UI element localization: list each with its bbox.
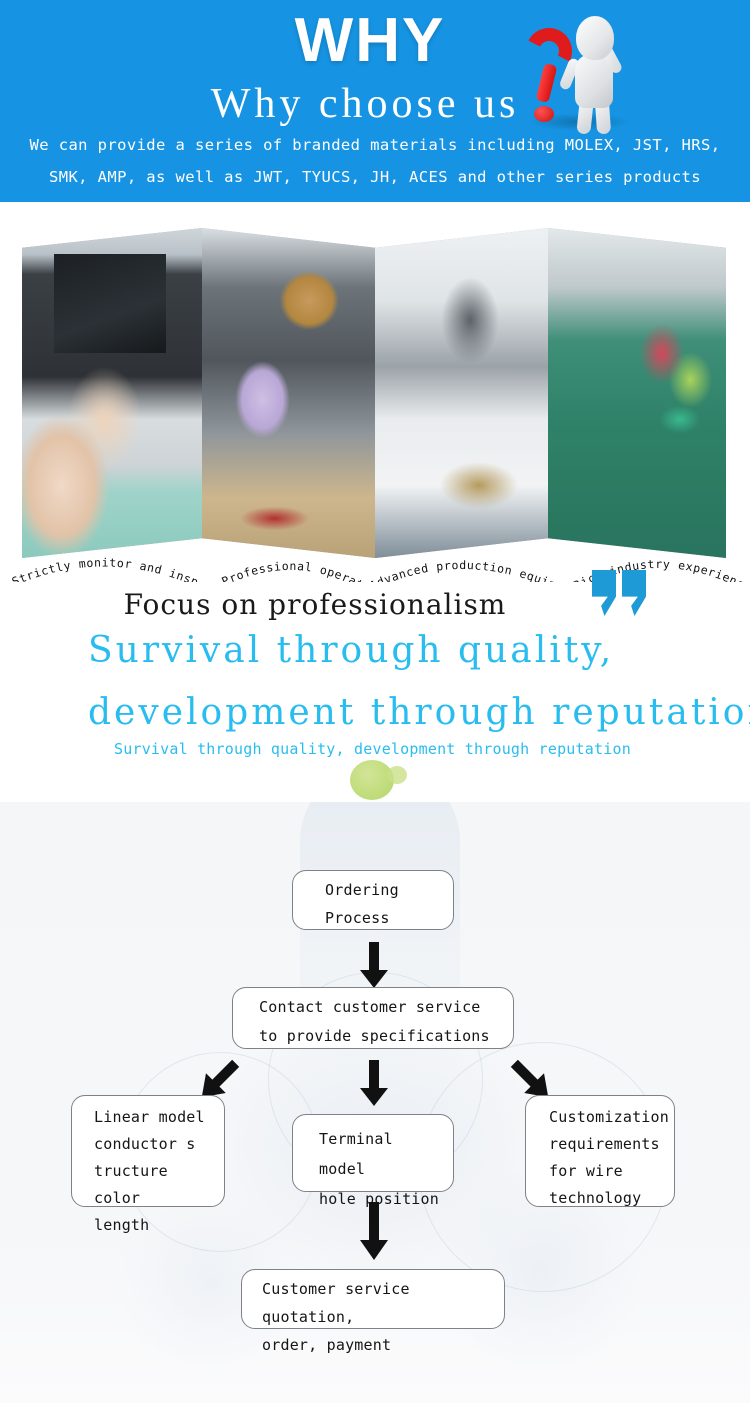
- ordering-process-flowchart: Ordering Process Contact customer servic…: [0, 802, 750, 1403]
- slogan-section: Focus on professionalism Survival throug…: [0, 582, 750, 802]
- flow-box-quotation-payment: Customer service quotation, order, payme…: [241, 1269, 505, 1329]
- slogan-focus: Focus on professionalism: [0, 588, 750, 621]
- flow-box-terminal-model: Terminal model hole position: [292, 1114, 454, 1192]
- flow-box-contact-service: Contact customer service to provide spec…: [232, 987, 514, 1049]
- header-text-line-1: We can provide a series of branded mater…: [0, 136, 750, 154]
- photo-gallery: Strictly monitor and inspect Professiona…: [0, 202, 750, 582]
- arrow-contact-to-terminal-icon: [352, 1060, 396, 1106]
- slogan-small-line: Survival through quality, development th…: [114, 740, 631, 758]
- gallery-panel-4: [548, 228, 726, 558]
- factory-photo-equipment: [375, 228, 548, 558]
- gallery-caption-3: Advanced production equipment: [0, 550, 558, 582]
- flow-box-customization: Customization requirements for wire tech…: [525, 1095, 675, 1207]
- flow-box-ordering-process: Ordering Process: [292, 870, 454, 930]
- page-header: WHY Why choose us We can provide a serie…: [0, 0, 750, 202]
- factory-photo-inspection: [22, 228, 202, 558]
- green-leaf-blob-icon: [350, 760, 394, 800]
- question-mark-mascot-icon: [520, 10, 640, 135]
- flow-box-linear-model: Linear model conductor s tructure color …: [71, 1095, 225, 1207]
- gallery-panel-1: [22, 228, 202, 558]
- gallery-caption-2: Professional operators: [0, 550, 366, 582]
- arrow-terminal-to-final-icon: [352, 1202, 396, 1260]
- factory-photo-operator: [202, 228, 375, 558]
- gallery-panel-2: [202, 228, 375, 558]
- gallery-panel-3: [375, 228, 548, 558]
- slogan-line-1: Survival through quality,: [88, 630, 614, 671]
- slogan-line-2: development through reputation: [88, 692, 750, 733]
- factory-photo-assembly-line: [548, 228, 726, 558]
- arrow-order-to-contact-icon: [352, 942, 396, 988]
- header-text-line-2: SMK, AMP, as well as JWT, TYUCS, JH, ACE…: [0, 168, 750, 186]
